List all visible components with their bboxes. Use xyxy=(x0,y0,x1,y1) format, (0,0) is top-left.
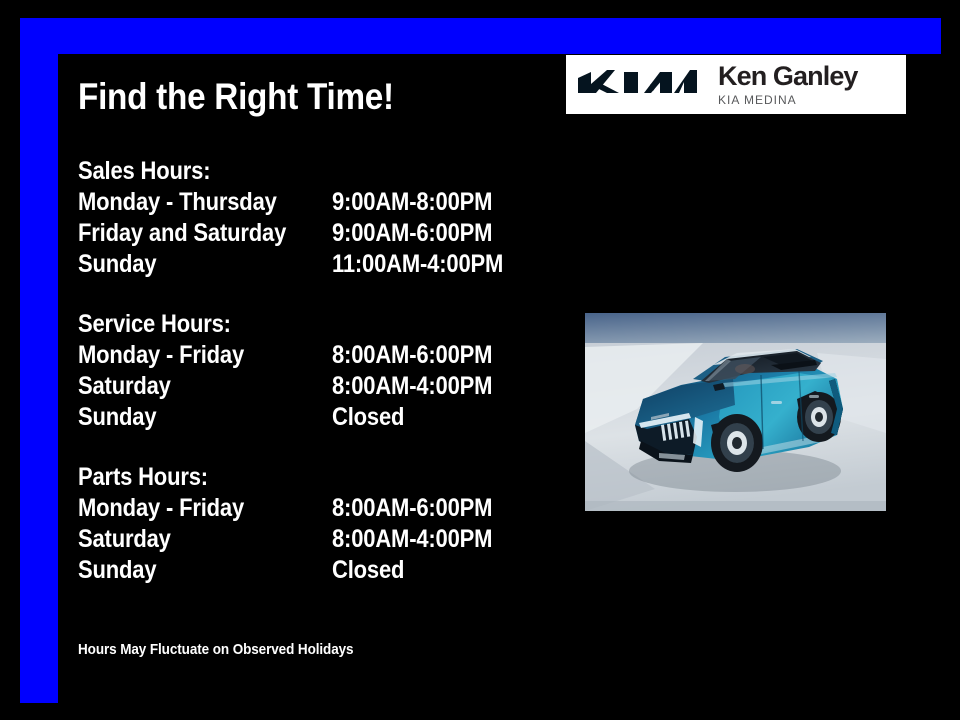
hours-row: Saturday 8:00AM-4:00PM xyxy=(78,371,548,402)
hours-row-day: Sunday xyxy=(78,555,156,586)
hours-row-day: Friday and Saturday xyxy=(78,218,286,249)
hours-row-time: 9:00AM-6:00PM xyxy=(332,218,492,249)
kia-ev9-suv-photo xyxy=(585,313,886,511)
hours-row-day: Saturday xyxy=(78,371,171,402)
hours-row-time: Closed xyxy=(332,555,404,586)
hours-row: Sunday Closed xyxy=(78,555,548,586)
dealer-name: Ken Ganley xyxy=(718,63,858,90)
hours-row-day: Sunday xyxy=(78,249,156,280)
hours-row-time: 8:00AM-4:00PM xyxy=(332,524,492,555)
hours-row-time: 11:00AM-4:00PM xyxy=(332,249,503,280)
hours-row: Monday - Thursday 9:00AM-8:00PM xyxy=(78,187,548,218)
hours-row-day: Monday - Friday xyxy=(78,493,244,524)
hours-row: Friday and Saturday 9:00AM-6:00PM xyxy=(78,218,548,249)
hours-row: Saturday 8:00AM-4:00PM xyxy=(78,524,548,555)
kia-logo-mark xyxy=(576,68,698,102)
hours-row-time: 8:00AM-4:00PM xyxy=(332,371,492,402)
hours-row: Sunday 11:00AM-4:00PM xyxy=(78,249,548,280)
page-title: Find the Right Time! xyxy=(78,78,394,117)
hours-row-time: 8:00AM-6:00PM xyxy=(332,493,492,524)
hours-row-day: Sunday xyxy=(78,402,156,433)
hours-heading: Sales Hours: xyxy=(78,156,492,187)
hours-block-sales: Sales Hours: Monday - Thursday 9:00AM-8:… xyxy=(78,156,548,280)
hours-row: Sunday Closed xyxy=(78,402,548,433)
dealer-subtitle: KIA MEDINA xyxy=(718,94,858,106)
slide-canvas: Find the Right Time! Sales Hours: Monday… xyxy=(0,0,960,720)
hours-block-service: Service Hours: Monday - Friday 8:00AM-6:… xyxy=(78,309,548,433)
hours-row-time: 9:00AM-8:00PM xyxy=(332,187,492,218)
hours-row: Monday - Friday 8:00AM-6:00PM xyxy=(78,493,548,524)
hours-block-parts: Parts Hours: Monday - Friday 8:00AM-6:00… xyxy=(78,462,548,586)
holiday-disclaimer: Hours May Fluctuate on Observed Holidays xyxy=(78,641,353,658)
hours-row-day: Monday - Friday xyxy=(78,340,244,371)
dealer-name-group: Ken Ganley KIA MEDINA xyxy=(718,63,858,106)
hours-heading: Parts Hours: xyxy=(78,462,492,493)
hours-row-time: Closed xyxy=(332,402,404,433)
dealer-logo-banner: Ken Ganley KIA MEDINA xyxy=(566,55,906,114)
hours-row-day: Monday - Thursday xyxy=(78,187,277,218)
hours-row-time: 8:00AM-6:00PM xyxy=(332,340,492,371)
hours-heading: Service Hours: xyxy=(78,309,492,340)
hours-row-day: Saturday xyxy=(78,524,171,555)
hours-row: Monday - Friday 8:00AM-6:00PM xyxy=(78,340,548,371)
